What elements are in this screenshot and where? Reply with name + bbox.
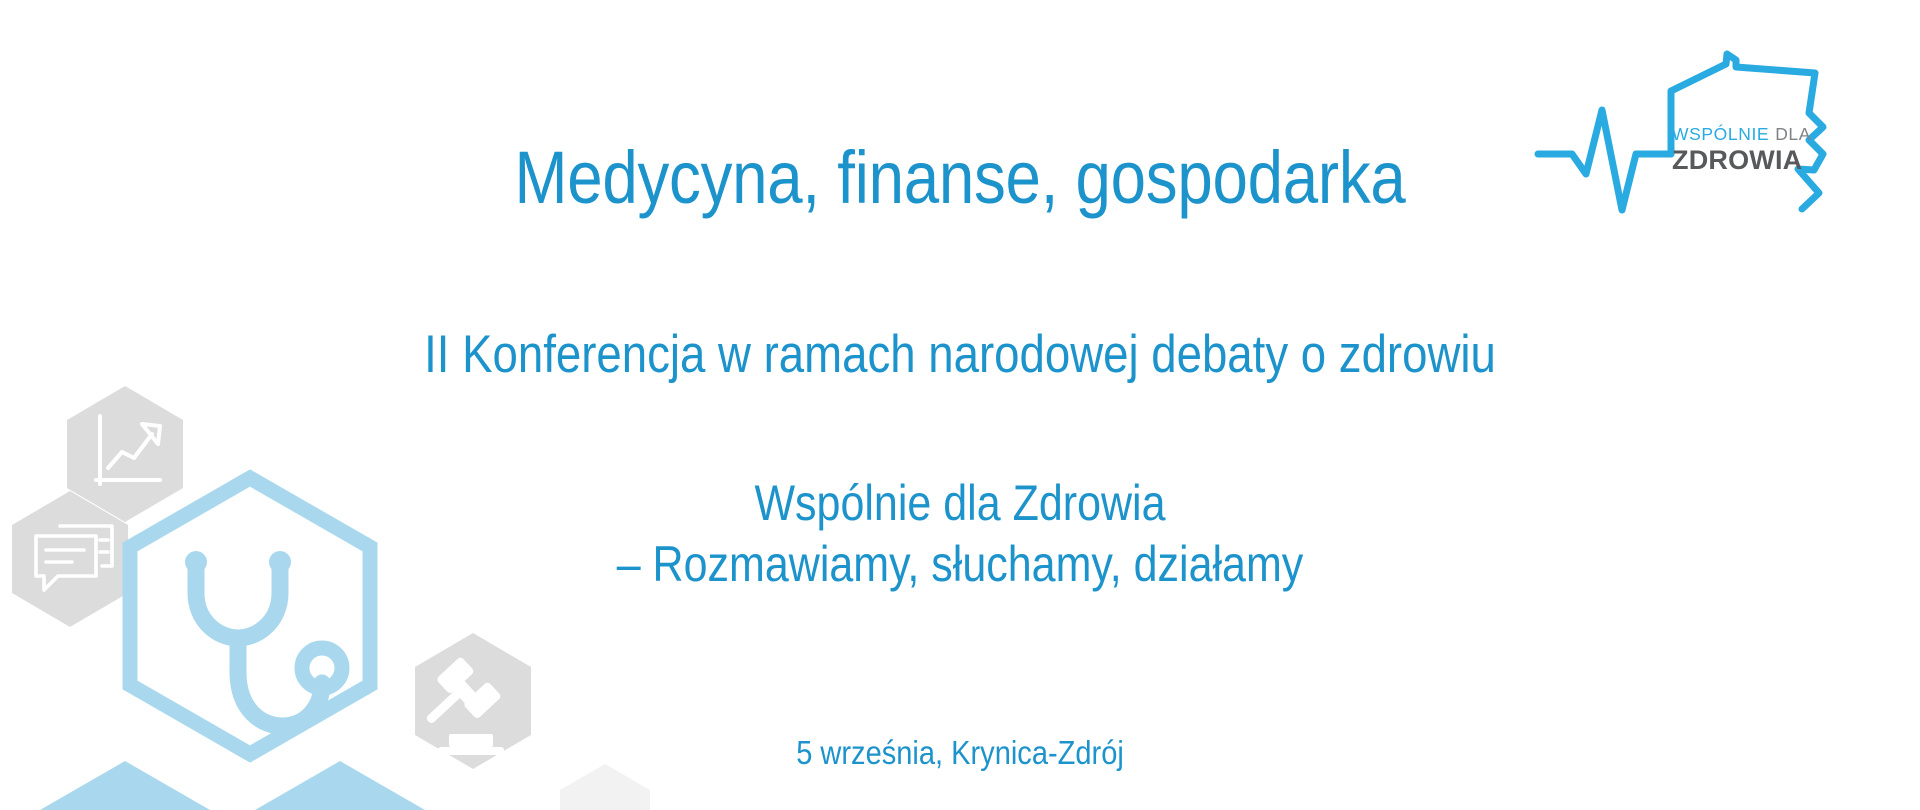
hexagon-speech-bubbles [12, 491, 128, 627]
date-location: 5 września, Krynica-Zdrój [115, 735, 1805, 771]
page-title: Medycyna, finanse, gospodarka [134, 140, 1785, 215]
slogan-block: Wspólnie dla Zdrowia – Rozmawiamy, słuch… [134, 473, 1785, 595]
slogan-line-1: Wspólnie dla Zdrowia [134, 473, 1785, 534]
slogan-line-2: – Rozmawiamy, słuchamy, działamy [134, 534, 1785, 595]
conference-subtitle: II Konferencja w ramach narodowej debaty… [134, 327, 1785, 383]
conference-banner: WSPÓLNIEDLA ZDROWIA Medycyna, finanse, g… [0, 0, 1920, 810]
